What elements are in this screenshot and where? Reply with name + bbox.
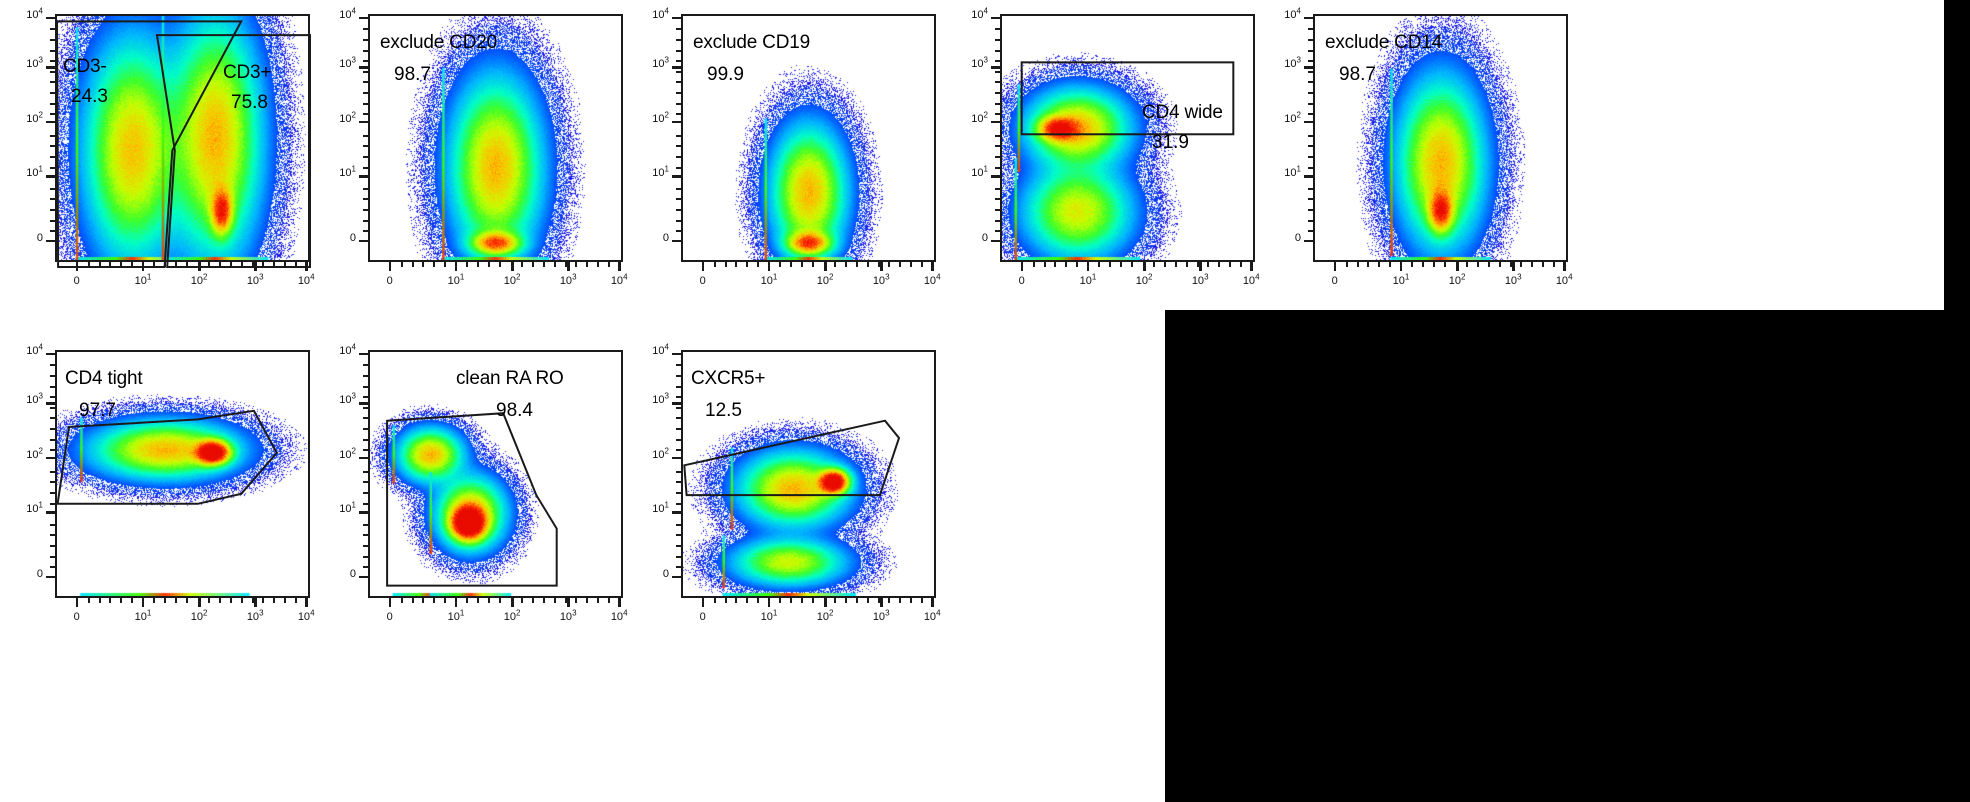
y-tick-mark <box>672 576 681 579</box>
x-minor-tick <box>219 262 221 267</box>
y-tick-mark <box>1304 17 1313 20</box>
x-tick-mark <box>389 262 392 271</box>
x-axis-tick-label: 0 <box>1002 275 1042 287</box>
x-axis-tick-label: 104 <box>286 611 326 623</box>
x-minor-tick <box>812 262 814 267</box>
y-tick-mark <box>359 240 368 243</box>
x-tick-mark <box>931 598 934 607</box>
x-minor-tick <box>175 262 177 267</box>
y-tick-mark <box>672 66 681 69</box>
y-minor-tick <box>676 386 681 388</box>
y-minor-tick <box>363 220 368 222</box>
y-minor-tick <box>50 449 55 451</box>
y-minor-tick <box>1308 39 1313 41</box>
y-minor-tick <box>363 198 368 200</box>
y-tick-mark <box>672 175 681 178</box>
y-minor-tick <box>676 566 681 568</box>
y-axis-tick-label: 102 <box>954 113 988 125</box>
x-axis-tick-label: 101 <box>1381 275 1421 287</box>
y-tick-mark <box>359 457 368 460</box>
x-tick-mark <box>305 598 308 607</box>
x-minor-tick <box>1389 262 1391 267</box>
y-minor-tick <box>1308 188 1313 190</box>
x-minor-tick <box>597 598 599 603</box>
x-axis-tick-label: 104 <box>286 275 326 287</box>
y-axis-tick-label: 0 <box>9 568 43 580</box>
y-minor-tick <box>363 92 368 94</box>
y-minor-tick <box>995 156 1000 158</box>
x-minor-tick <box>1422 262 1424 267</box>
y-minor-tick <box>363 145 368 147</box>
y-minor-tick <box>995 167 1000 169</box>
x-tick-mark <box>1456 262 1459 271</box>
x-minor-tick <box>120 598 122 603</box>
x-minor-tick <box>543 598 545 603</box>
y-minor-tick <box>1308 71 1313 73</box>
y-axis-tick-label: 101 <box>322 167 356 179</box>
y-tick-mark <box>359 402 368 405</box>
y-minor-tick <box>50 492 55 494</box>
x-minor-tick <box>921 598 923 603</box>
y-minor-tick <box>50 60 55 62</box>
y-tick-mark <box>359 576 368 579</box>
y-axis-tick-label: 0 <box>1267 232 1301 244</box>
x-minor-tick <box>1488 262 1490 267</box>
y-minor-tick <box>50 81 55 83</box>
x-minor-tick <box>1218 262 1220 267</box>
y-minor-tick <box>676 545 681 547</box>
y-minor-tick <box>1308 103 1313 105</box>
x-tick-mark <box>768 262 771 271</box>
x-minor-tick <box>1444 262 1446 267</box>
y-axis-tick-label: 102 <box>635 449 669 461</box>
x-tick-mark <box>1087 262 1090 271</box>
y-minor-tick <box>676 50 681 52</box>
x-tick-mark <box>1021 262 1024 271</box>
y-minor-tick <box>50 167 55 169</box>
x-minor-tick <box>565 598 567 603</box>
x-axis-tick-label: 101 <box>749 275 789 287</box>
x-axis-tick-label: 0 <box>370 275 410 287</box>
x-minor-tick <box>1466 262 1468 267</box>
x-minor-tick <box>1098 262 1100 267</box>
y-minor-tick <box>995 230 1000 232</box>
x-axis-tick-label: 104 <box>1231 275 1271 287</box>
x-minor-tick <box>878 262 880 267</box>
y-minor-tick <box>995 71 1000 73</box>
y-axis-tick-label: 104 <box>9 345 43 357</box>
gate-label-percent: 24.3 <box>71 86 108 108</box>
x-minor-tick <box>252 262 254 267</box>
x-minor-tick <box>186 598 188 603</box>
gate-label-name: CD4 wide <box>1142 102 1223 124</box>
y-minor-tick <box>1308 28 1313 30</box>
x-minor-tick <box>109 598 111 603</box>
y-minor-tick <box>50 524 55 526</box>
x-minor-tick <box>164 262 166 267</box>
x-axis-tick-label: 102 <box>492 275 532 287</box>
x-axis-tick-label: 103 <box>548 275 588 287</box>
x-minor-tick <box>444 598 446 603</box>
y-minor-tick <box>50 50 55 52</box>
x-minor-tick <box>466 262 468 267</box>
x-minor-tick <box>401 262 403 267</box>
plot-panel-p8: CXCR5+12.501011021031040101102103104 <box>681 350 936 598</box>
y-minor-tick <box>50 545 55 547</box>
x-axis-tick-label: 103 <box>861 611 901 623</box>
x-axis-tick-label: 101 <box>436 611 476 623</box>
y-minor-tick <box>995 103 1000 105</box>
gate-label-name: clean RA RO <box>456 368 564 390</box>
y-axis-tick-label: 103 <box>954 58 988 70</box>
y-minor-tick <box>676 503 681 505</box>
x-minor-tick <box>1175 262 1177 267</box>
y-minor-tick <box>50 71 55 73</box>
x-axis-tick-label: 104 <box>1544 275 1584 287</box>
y-minor-tick <box>1308 50 1313 52</box>
y-minor-tick <box>50 471 55 473</box>
y-minor-tick <box>50 386 55 388</box>
y-minor-tick <box>676 209 681 211</box>
x-minor-tick <box>910 262 912 267</box>
y-tick-mark <box>359 17 368 20</box>
x-minor-tick <box>586 262 588 267</box>
x-minor-tick <box>1531 262 1533 267</box>
x-axis-tick-label: 103 <box>235 611 275 623</box>
gate-label-name: CD3+ <box>223 62 271 84</box>
x-tick-mark <box>1143 262 1146 271</box>
x-minor-tick <box>230 262 232 267</box>
y-minor-tick <box>676 375 681 377</box>
y-minor-tick <box>50 566 55 568</box>
x-tick-mark <box>1334 262 1337 271</box>
y-minor-tick <box>50 396 55 398</box>
x-axis-tick-label: 103 <box>548 611 588 623</box>
plot-panel-p4: CD4 wide31.901011021031040101102103104 <box>1000 14 1255 262</box>
y-minor-tick <box>363 39 368 41</box>
x-minor-tick <box>834 598 836 603</box>
y-minor-tick <box>50 103 55 105</box>
y-minor-tick <box>1308 113 1313 115</box>
x-minor-tick <box>1054 262 1056 267</box>
x-axis-tick-label: 0 <box>1315 275 1355 287</box>
y-minor-tick <box>50 28 55 30</box>
y-tick-mark <box>359 353 368 356</box>
x-minor-tick <box>1044 262 1046 267</box>
x-minor-tick <box>1153 262 1155 267</box>
x-minor-tick <box>757 598 759 603</box>
y-minor-tick <box>363 556 368 558</box>
y-tick-mark <box>46 121 55 124</box>
y-minor-tick <box>676 439 681 441</box>
y-minor-tick <box>1308 156 1313 158</box>
gate-label-percent: 31.9 <box>1152 132 1189 154</box>
y-tick-mark <box>359 121 368 124</box>
y-axis-tick-label: 102 <box>9 113 43 125</box>
x-minor-tick <box>532 598 534 603</box>
x-minor-tick <box>735 598 737 603</box>
x-axis-tick-label: 103 <box>1493 275 1533 287</box>
y-tick-mark <box>46 457 55 460</box>
y-minor-tick <box>363 534 368 536</box>
y-minor-tick <box>363 156 368 158</box>
y-minor-tick <box>50 428 55 430</box>
x-minor-tick <box>878 598 880 603</box>
y-minor-tick <box>995 60 1000 62</box>
x-minor-tick <box>1346 262 1348 267</box>
y-minor-tick <box>363 375 368 377</box>
gate-label-name: CXCR5+ <box>691 368 765 390</box>
y-minor-tick <box>363 386 368 388</box>
y-axis-tick-label: 101 <box>635 503 669 515</box>
x-tick-mark <box>511 262 514 271</box>
x-minor-tick <box>921 262 923 267</box>
x-minor-tick <box>725 598 727 603</box>
x-tick-mark <box>142 262 145 271</box>
x-minor-tick <box>99 262 101 267</box>
x-minor-tick <box>845 598 847 603</box>
y-tick-mark <box>46 511 55 514</box>
x-tick-mark <box>1512 262 1515 271</box>
y-tick-mark <box>46 175 55 178</box>
x-axis-tick-label: 102 <box>179 275 219 287</box>
y-minor-tick <box>676 492 681 494</box>
y-minor-tick <box>1308 81 1313 83</box>
y-minor-tick <box>50 220 55 222</box>
x-minor-tick <box>273 598 275 603</box>
x-minor-tick <box>899 262 901 267</box>
y-minor-tick <box>676 145 681 147</box>
density-plot-canvas <box>1002 16 1253 260</box>
x-minor-tick <box>284 262 286 267</box>
y-axis-tick-label: 102 <box>9 449 43 461</box>
y-minor-tick <box>676 71 681 73</box>
x-minor-tick <box>725 262 727 267</box>
x-tick-mark <box>1563 262 1566 271</box>
gate-label-percent: 97.7 <box>79 400 116 422</box>
gate-label-name: CD3- <box>63 56 107 78</box>
y-minor-tick <box>50 188 55 190</box>
x-minor-tick <box>488 598 490 603</box>
x-minor-tick <box>779 262 781 267</box>
x-tick-mark <box>1199 262 1202 271</box>
x-tick-mark <box>931 262 934 271</box>
y-tick-mark <box>991 175 1000 178</box>
y-axis-tick-label: 0 <box>635 232 669 244</box>
y-minor-tick <box>1308 198 1313 200</box>
y-minor-tick <box>995 81 1000 83</box>
x-minor-tick <box>466 598 468 603</box>
y-axis-tick-label: 103 <box>9 394 43 406</box>
plot-panel-p2: exclude CD2098.7010110210310401011021031… <box>368 14 623 262</box>
y-minor-tick <box>363 209 368 211</box>
y-minor-tick <box>1308 92 1313 94</box>
y-tick-mark <box>991 66 1000 69</box>
gate-label-percent: 12.5 <box>705 400 742 422</box>
y-axis-tick-label: 104 <box>635 9 669 21</box>
plot-panel-p6: CD4 tight97.701011021031040101102103104 <box>55 350 310 598</box>
y-minor-tick <box>676 407 681 409</box>
y-minor-tick <box>676 28 681 30</box>
y-axis-tick-label: 0 <box>9 232 43 244</box>
x-tick-mark <box>511 598 514 607</box>
x-axis-tick-label: 102 <box>179 611 219 623</box>
x-axis-tick-label: 103 <box>861 275 901 287</box>
x-axis-tick-label: 0 <box>57 275 97 287</box>
y-minor-tick <box>676 428 681 430</box>
x-minor-tick <box>586 598 588 603</box>
y-minor-tick <box>676 167 681 169</box>
y-minor-tick <box>995 188 1000 190</box>
y-minor-tick <box>363 113 368 115</box>
y-minor-tick <box>1308 167 1313 169</box>
x-minor-tick <box>477 598 479 603</box>
x-tick-mark <box>880 262 883 271</box>
x-minor-tick <box>1033 262 1035 267</box>
x-minor-tick <box>779 598 781 603</box>
y-minor-tick <box>363 167 368 169</box>
x-tick-mark <box>618 262 621 271</box>
x-minor-tick <box>554 598 556 603</box>
x-tick-mark <box>76 598 79 607</box>
y-minor-tick <box>363 417 368 419</box>
x-minor-tick <box>1076 262 1078 267</box>
x-minor-tick <box>1433 262 1435 267</box>
x-axis-tick-label: 104 <box>599 611 639 623</box>
y-axis-tick-label: 104 <box>322 9 356 21</box>
x-axis-tick-label: 0 <box>370 611 410 623</box>
x-minor-tick <box>899 598 901 603</box>
x-axis-tick-label: 103 <box>1180 275 1220 287</box>
y-axis-tick-label: 101 <box>954 167 988 179</box>
y-tick-mark <box>991 121 1000 124</box>
y-minor-tick <box>995 28 1000 30</box>
y-minor-tick <box>676 220 681 222</box>
y-minor-tick <box>363 71 368 73</box>
y-tick-mark <box>672 121 681 124</box>
y-minor-tick <box>995 39 1000 41</box>
x-minor-tick <box>488 262 490 267</box>
x-tick-mark <box>76 262 79 271</box>
x-minor-tick <box>790 598 792 603</box>
y-minor-tick <box>363 449 368 451</box>
x-minor-tick <box>575 262 577 267</box>
y-minor-tick <box>676 113 681 115</box>
y-tick-mark <box>991 240 1000 243</box>
x-minor-tick <box>401 598 403 603</box>
x-minor-tick <box>153 598 155 603</box>
y-tick-mark <box>46 66 55 69</box>
y-minor-tick <box>50 39 55 41</box>
gate-label-name: CD4 tight <box>65 368 142 390</box>
y-minor-tick <box>363 407 368 409</box>
y-minor-tick <box>50 92 55 94</box>
x-axis-tick-label: 102 <box>1437 275 1477 287</box>
y-minor-tick <box>1308 135 1313 137</box>
x-minor-tick <box>252 598 254 603</box>
y-axis-tick-label: 103 <box>635 58 669 70</box>
y-minor-tick <box>363 188 368 190</box>
x-axis-tick-label: 101 <box>123 611 163 623</box>
x-minor-tick <box>714 262 716 267</box>
x-minor-tick <box>241 262 243 267</box>
y-minor-tick <box>676 556 681 558</box>
x-minor-tick <box>422 262 424 267</box>
x-axis-tick-label: 101 <box>749 611 789 623</box>
y-minor-tick <box>676 471 681 473</box>
y-axis-tick-label: 101 <box>322 503 356 515</box>
y-minor-tick <box>676 524 681 526</box>
x-minor-tick <box>867 598 869 603</box>
x-minor-tick <box>433 598 435 603</box>
x-tick-mark <box>768 598 771 607</box>
x-minor-tick <box>219 598 221 603</box>
x-tick-mark <box>567 262 570 271</box>
x-minor-tick <box>208 598 210 603</box>
x-minor-tick <box>1229 262 1231 267</box>
y-minor-tick <box>363 135 368 137</box>
y-tick-mark <box>1304 240 1313 243</box>
x-minor-tick <box>856 598 858 603</box>
x-minor-tick <box>608 262 610 267</box>
y-minor-tick <box>995 198 1000 200</box>
y-minor-tick <box>676 481 681 483</box>
plot-panel-p3: exclude CD1999.9010110210310401011021031… <box>681 14 936 262</box>
y-minor-tick <box>50 534 55 536</box>
y-tick-mark <box>1304 66 1313 69</box>
x-minor-tick <box>295 262 297 267</box>
y-minor-tick <box>50 375 55 377</box>
x-minor-tick <box>273 262 275 267</box>
y-minor-tick <box>50 209 55 211</box>
x-tick-mark <box>824 262 827 271</box>
y-minor-tick <box>363 503 368 505</box>
x-minor-tick <box>801 262 803 267</box>
y-minor-tick <box>363 230 368 232</box>
y-minor-tick <box>676 103 681 105</box>
x-axis-tick-label: 104 <box>912 275 952 287</box>
y-tick-mark <box>1304 121 1313 124</box>
x-minor-tick <box>1411 262 1413 267</box>
x-minor-tick <box>812 598 814 603</box>
x-minor-tick <box>88 262 90 267</box>
gate-label-name: exclude CD19 <box>693 32 810 54</box>
y-axis-tick-label: 104 <box>322 345 356 357</box>
y-axis-tick-label: 103 <box>322 58 356 70</box>
gate-label-name: exclude CD20 <box>380 32 497 54</box>
y-axis-tick-label: 101 <box>9 167 43 179</box>
y-minor-tick <box>995 113 1000 115</box>
plot-panel-p7: clean RA RO98.40101102103104010110210310… <box>368 350 623 598</box>
y-minor-tick <box>676 60 681 62</box>
x-minor-tick <box>1357 262 1359 267</box>
y-minor-tick <box>676 449 681 451</box>
x-minor-tick <box>164 598 166 603</box>
y-minor-tick <box>995 145 1000 147</box>
y-minor-tick <box>676 230 681 232</box>
gate-label-percent: 98.7 <box>394 64 431 86</box>
y-minor-tick <box>363 60 368 62</box>
x-axis-tick-label: 0 <box>57 611 97 623</box>
x-minor-tick <box>241 598 243 603</box>
x-minor-tick <box>1553 262 1555 267</box>
gate-label-name: exclude CD14 <box>1325 32 1442 54</box>
x-axis-tick-label: 103 <box>235 275 275 287</box>
x-minor-tick <box>845 262 847 267</box>
y-minor-tick <box>363 545 368 547</box>
x-minor-tick <box>99 598 101 603</box>
y-axis-tick-label: 104 <box>1267 9 1301 21</box>
